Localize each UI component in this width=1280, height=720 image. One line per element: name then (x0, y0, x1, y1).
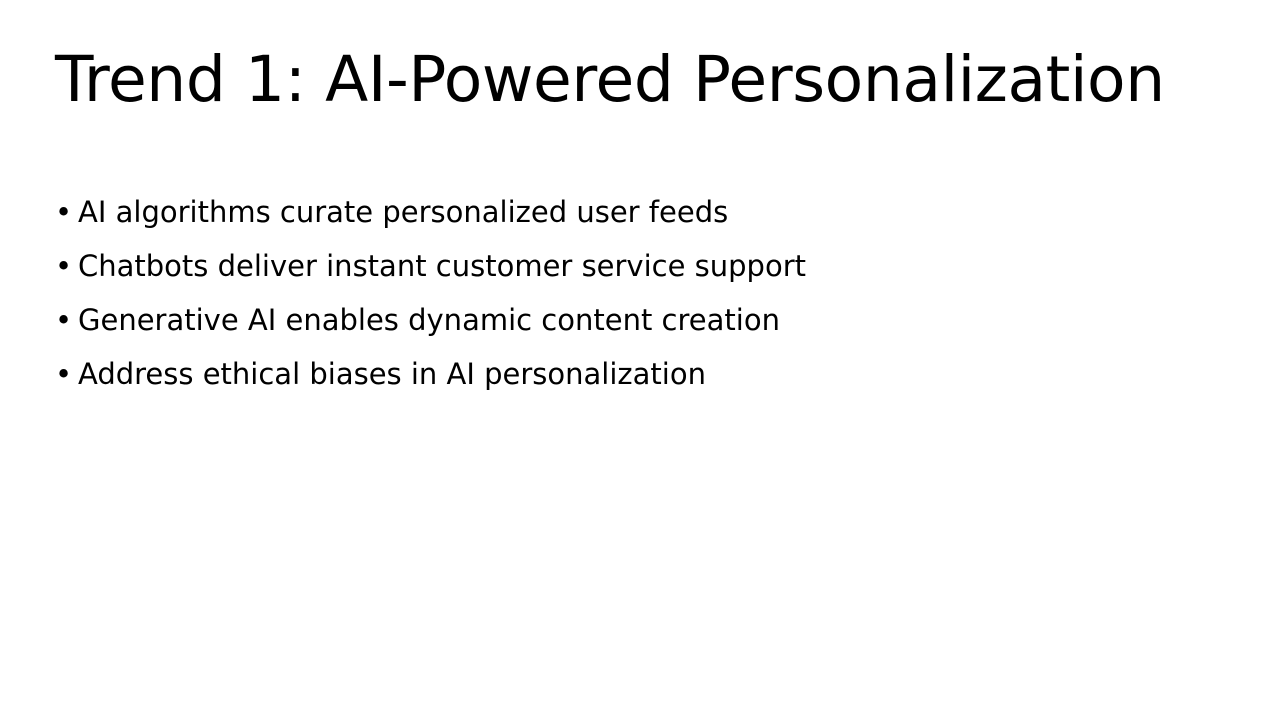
list-item: • Address ethical biases in AI personali… (55, 347, 1225, 401)
bullet-list: • AI algorithms curate personalized user… (55, 185, 1225, 401)
bullet-text: Chatbots deliver instant customer servic… (78, 239, 806, 293)
bullet-point-icon: • (55, 347, 78, 401)
slide-canvas: Trend 1: AI-Powered Personalization • AI… (0, 0, 1280, 720)
bullet-text: AI algorithms curate personalized user f… (78, 185, 728, 239)
bullet-text: Generative AI enables dynamic content cr… (78, 293, 780, 347)
slide-title: Trend 1: AI-Powered Personalization (55, 48, 1225, 111)
bullet-point-icon: • (55, 185, 78, 239)
list-item: • Chatbots deliver instant customer serv… (55, 239, 1225, 293)
bullet-text: Address ethical biases in AI personaliza… (78, 347, 706, 401)
bullet-point-icon: • (55, 239, 78, 293)
list-item: • AI algorithms curate personalized user… (55, 185, 1225, 239)
list-item: • Generative AI enables dynamic content … (55, 293, 1225, 347)
bullet-point-icon: • (55, 293, 78, 347)
